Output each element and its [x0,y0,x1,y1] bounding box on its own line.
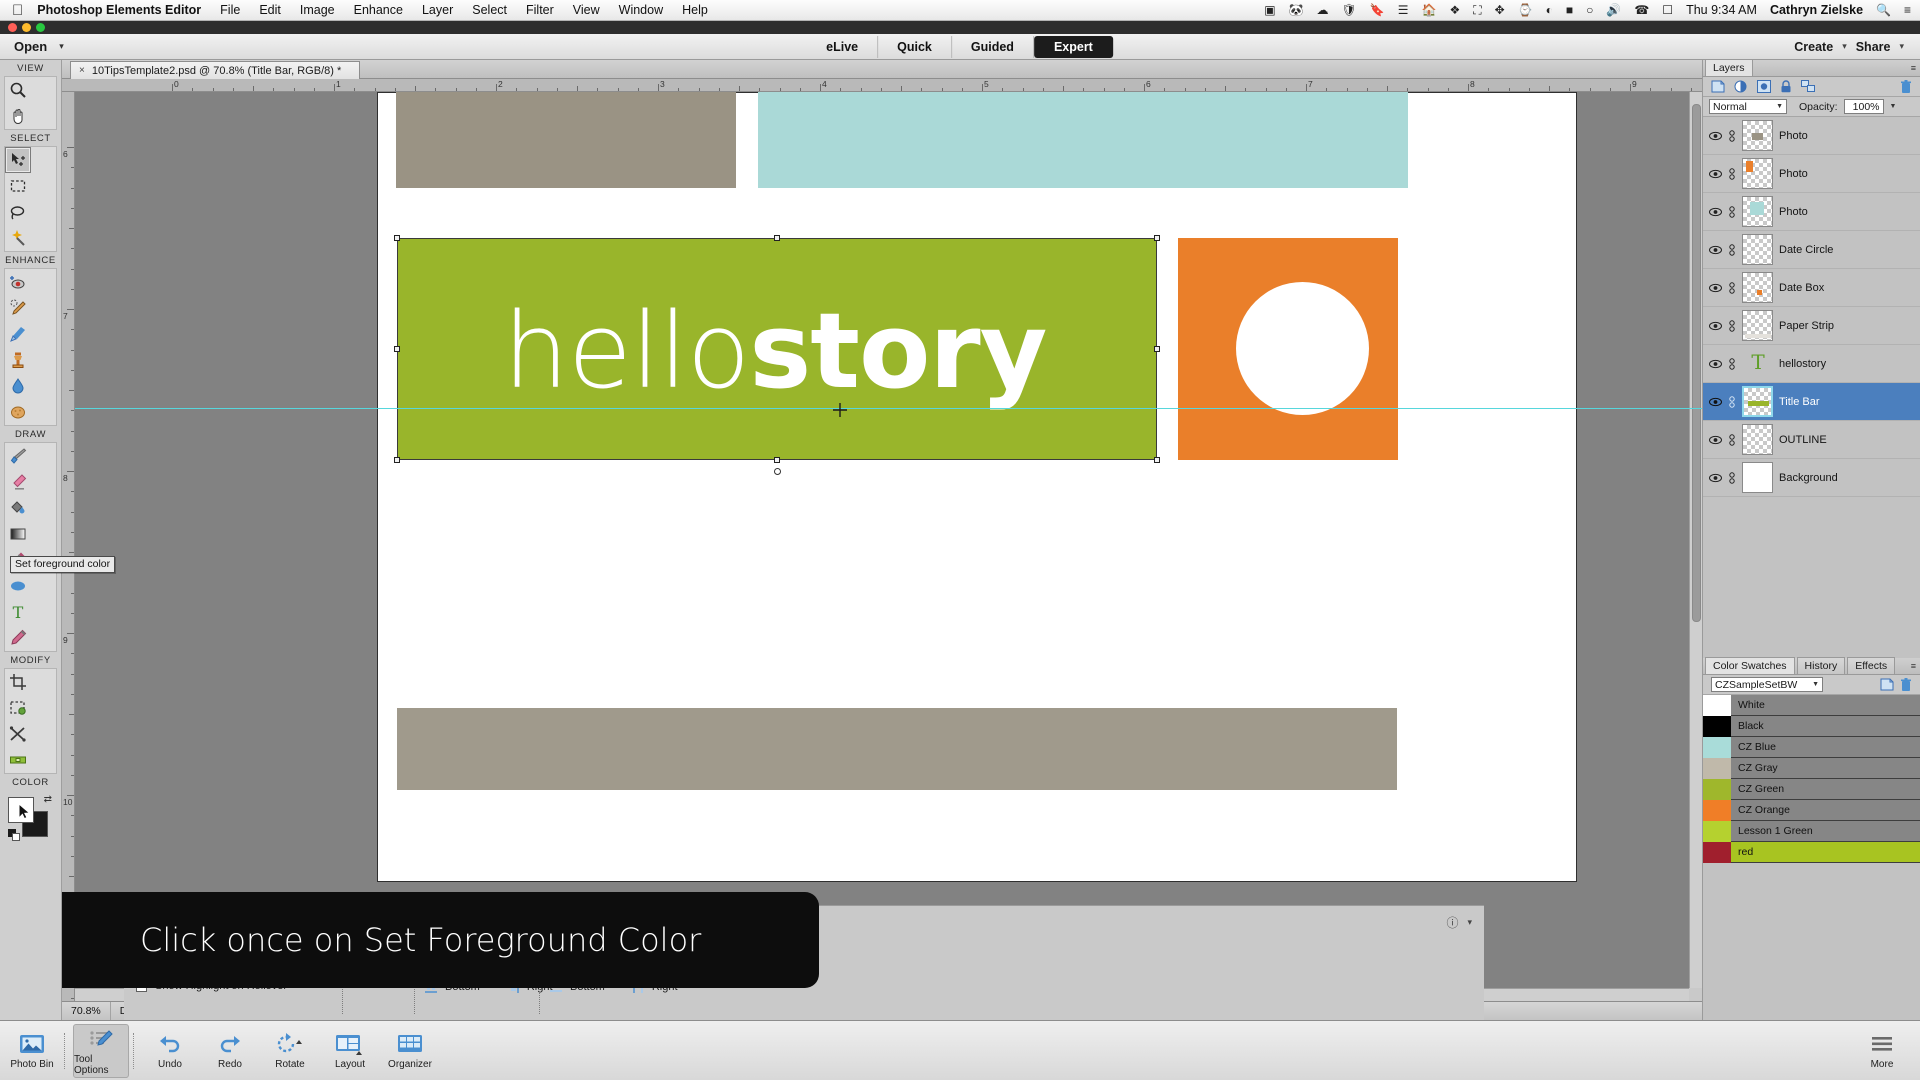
selection-handle-ml[interactable] [394,346,400,352]
share-caret-icon[interactable]: ▾ [1899,41,1904,52]
selection-handle-tr[interactable] [1154,235,1160,241]
opacity-input[interactable]: 100% [1844,99,1884,114]
list-item[interactable]: CZ Green [1703,779,1920,800]
share-button[interactable]: Share [1856,40,1891,54]
link-icon[interactable] [1728,282,1736,294]
layer-thumbnail[interactable] [1742,424,1773,455]
scrollbar-thumb[interactable] [1692,104,1701,622]
link-icon[interactable] [1728,472,1736,484]
app-top-bar: Open ▾ eLive Quick Guided Expert Create … [0,34,1920,60]
color-picker-widget: ⇄ [8,794,54,836]
undo-label: Undo [158,1059,182,1070]
selection-handle-tc[interactable] [774,235,780,241]
list-item[interactable]: CZ Gray [1703,758,1920,779]
content-aware-move-tool[interactable] [5,721,31,747]
swatch-name: CZ Green [1731,783,1784,795]
menu-app-name[interactable]: Photoshop Elements Editor [37,3,201,17]
swatch-name: Black [1731,720,1764,732]
menu-help[interactable]: Help [682,3,708,17]
menu-layer[interactable]: Layer [422,3,453,17]
swatch-color-chip[interactable] [1703,716,1731,737]
eye-icon[interactable] [1709,207,1722,217]
create-button[interactable]: Create [1794,40,1833,54]
list-item[interactable]: CZ Blue [1703,737,1920,758]
layer-name: Date Circle [1779,244,1833,256]
help-icon[interactable]: ⓘ [1446,914,1458,931]
layer-mask-icon[interactable] [1757,80,1771,93]
link-icon[interactable] [1728,206,1736,218]
rotate-button[interactable]: Rotate [262,1024,318,1078]
eye-icon[interactable] [1709,169,1722,179]
list-item[interactable]: Black [1703,716,1920,737]
swatch-name: Lesson 1 Green [1731,825,1813,837]
menu-select[interactable]: Select [472,3,507,17]
menu-bar-status-items: ▣ 🐼 ☁ 🛡 🔖 ☰ 🏠 ❖ ⛶ ✥ ⌚ ◐ ■ ○ 🔊 ☎ ☐ Thu 9:… [1264,3,1920,17]
layer-name: Paper Strip [1779,320,1834,332]
link-icon[interactable] [1728,320,1736,332]
organizer-icon [397,1031,423,1057]
list-item[interactable]: CZ Orange [1703,800,1920,821]
layer-thumbnail[interactable] [1742,310,1773,341]
layers-list[interactable]: Photo Photo Photo Date Circle [1703,117,1920,574]
layer-name: Background [1779,472,1838,484]
organizer-label: Organizer [388,1059,432,1070]
shield-icon[interactable]: 🛡 [1342,4,1357,16]
type-tool[interactable]: T [5,599,31,625]
recompose-tool[interactable] [5,695,31,721]
selection-handle-bc[interactable] [774,457,780,463]
layout-label: Layout [335,1059,365,1070]
mode-switcher: eLive Quick Guided Expert [807,36,1113,58]
chevron-down-icon: ▼ [1776,103,1783,110]
menu-file[interactable]: File [220,3,240,17]
straighten-tool[interactable] [5,747,31,773]
photo-bin-button[interactable]: Photo Bin [4,1024,60,1078]
layout-icon [335,1031,365,1057]
blur-tool[interactable] [5,373,31,399]
tool-group-draw: T [4,442,57,652]
swatch-name: White [1731,699,1765,711]
opacity-value: 100% [1853,101,1880,113]
home-icon[interactable]: 🏠 [1422,4,1437,16]
layer-name: Photo [1779,130,1808,142]
swatch-name: red [1731,846,1753,858]
opacity-label: Opacity: [1799,101,1838,113]
panel-menu-icon[interactable]: ≡ [1911,63,1916,73]
phone-icon[interactable]: ☎ [1634,4,1649,16]
default-colors-icon[interactable] [8,829,21,842]
selection-handle-br[interactable] [1154,457,1160,463]
move-tool[interactable] [5,147,31,173]
canvas-stage[interactable]: hellostory [75,92,1702,988]
layer-name: Photo [1779,206,1808,218]
eye-icon[interactable] [1709,397,1722,407]
menu-clock[interactable]: Thu 9:34 AM [1686,3,1757,17]
move-cursor-icon [832,402,848,418]
link-icon[interactable] [1728,358,1736,370]
document-tab-label: 10TipsTemplate2.psd @ 70.8% (Title Bar, … [92,65,341,77]
link-icon[interactable] [1728,168,1736,180]
menu-window[interactable]: Window [619,3,663,17]
tab-color-swatches[interactable]: Color Swatches [1705,657,1795,674]
redo-icon [217,1031,243,1057]
layers-panel-tab-strip: Layers ≡ [1703,60,1920,77]
table-row[interactable]: OUTLINE [1703,421,1920,459]
tool-group-label-color: COLOR [0,774,61,790]
swatch-color-chip[interactable] [1703,758,1731,779]
svg-text:T: T [13,603,24,621]
spot-healing-brush-tool[interactable] [5,295,31,321]
tab-quick[interactable]: Quick [878,36,952,58]
horizontal-ruler: 0123456789 [62,79,1702,92]
open-button[interactable]: Open [14,39,47,54]
layer-thumbnail[interactable] [1742,272,1773,303]
taskbar-divider [64,1033,65,1069]
tool-options-icon [88,1026,114,1052]
menu-user-name[interactable]: Cathryn Zielske [1770,3,1863,17]
lasso-tool[interactable] [5,199,31,225]
bookmark-icon[interactable]: 🔖 [1370,4,1385,16]
table-row[interactable]: Photo [1703,155,1920,193]
swatch-name: CZ Orange [1731,804,1790,816]
tools-panel: VIEW SELECT ENHANCE [0,60,62,1020]
layer-thumbnail[interactable] [1742,462,1773,493]
search-icon[interactable]: 🔍 [1876,4,1891,16]
swatches-toolbar: CZSampleSetBW ▼ [1703,675,1920,695]
swap-colors-icon[interactable]: ⇄ [44,794,52,805]
layer-thumbnail[interactable] [1742,120,1773,151]
menu-filter[interactable]: Filter [526,3,554,17]
layer-name: Date Box [1779,282,1824,294]
tool-group-label-select: SELECT [0,130,61,146]
red-eye-removal-tool[interactable] [5,269,31,295]
editor-main-area: VIEW SELECT ENHANCE [0,60,1920,1020]
blend-mode-value: Normal [1713,101,1747,113]
organizer-button[interactable]: Organizer [382,1024,438,1078]
swatch-name: CZ Gray [1731,762,1778,774]
rectangular-marquee-tool[interactable] [5,173,31,199]
link-icon[interactable] [1728,396,1736,408]
create-caret-icon[interactable]: ▾ [1842,41,1847,52]
table-row[interactable]: Photo [1703,193,1920,231]
trash-icon[interactable] [1900,678,1912,692]
crop-tool[interactable] [5,669,31,695]
tab-history[interactable]: History [1797,657,1846,674]
document-tab-strip: × 10TipsTemplate2.psd @ 70.8% (Title Bar… [62,60,1702,79]
tab-effects[interactable]: Effects [1847,657,1895,674]
zoom-button[interactable] [36,23,45,32]
opacity-chevron-icon[interactable]: ▼ [1890,103,1897,110]
canvas-vertical-scrollbar[interactable] [1689,92,1702,988]
apple-icon[interactable]:  [12,3,23,18]
close-icon[interactable]: × [79,65,85,76]
notification-center-icon[interactable]: ≡ [1904,4,1911,16]
layer-thumbnail[interactable] [1742,158,1773,189]
swatch-color-chip[interactable] [1703,737,1731,758]
sponge-tool[interactable] [5,399,31,425]
battery-icon[interactable]: ■ [1566,4,1573,16]
open-caret-icon[interactable]: ▾ [59,41,64,52]
more-button[interactable]: More [1854,1024,1910,1078]
redo-button[interactable]: Redo [202,1024,258,1078]
tab-elive[interactable]: eLive [807,36,878,58]
document-canvas[interactable]: hellostory [377,92,1577,882]
menu-enhance[interactable]: Enhance [354,3,403,17]
table-row[interactable]: Title Bar [1703,383,1920,421]
paper-strip-gray-bottom[interactable] [397,708,1397,790]
photo-block-gray-top[interactable] [396,92,736,188]
menu-image[interactable]: Image [300,3,335,17]
swatch-color-chip[interactable] [1703,842,1731,863]
move-icon[interactable]: ✥ [1495,4,1505,16]
link-icon[interactable] [1728,434,1736,446]
tooltip-set-foreground-color: Set foreground color [10,556,115,573]
horizontal-guide[interactable] [75,408,1702,409]
swatch-color-chip[interactable] [1703,695,1731,716]
layer-name: OUTLINE [1779,434,1827,446]
selection-rotate-handle[interactable] [774,468,781,475]
app-bar-right: Create ▾ Share ▾ [1794,40,1920,54]
hand-tool[interactable] [5,103,31,129]
right-panel: Layers ≡ Normal ▼ Opacity: 100% ▼ [1702,60,1920,1020]
swatch-set-select[interactable]: CZSampleSetBW ▼ [1711,677,1823,692]
swatch-set-value: CZSampleSetBW [1715,679,1797,691]
photo-bin-label: Photo Bin [10,1059,53,1070]
list-item[interactable]: Lesson 1 Green [1703,821,1920,842]
mouse-cursor-icon [18,803,31,820]
tool-group-label-view: VIEW [0,60,61,76]
swatches-list[interactable]: White Black CZ Blue CZ Gray CZ Green [1703,695,1920,863]
rotate-icon [275,1031,305,1057]
table-row[interactable]: Date Circle [1703,231,1920,269]
screen-recorder-icon[interactable]: ▣ [1264,4,1275,16]
taskbar-divider [133,1033,134,1069]
list-item[interactable]: White [1703,695,1920,716]
eye-icon[interactable] [1709,473,1722,483]
photo-block-blue-top[interactable] [758,92,1408,188]
selection-handle-mr[interactable] [1154,346,1160,352]
chevron-down-icon: ▼ [1812,681,1819,688]
eye-icon[interactable] [1709,359,1722,369]
instruction-caption-text: Click once on Set Foreground Color [62,921,701,959]
creative-cloud-icon[interactable]: ☁ [1317,4,1329,16]
layer-name: Title Bar [1779,396,1820,408]
selection-handle-tl[interactable] [394,235,400,241]
tool-group-label-enhance: ENHANCE [0,252,61,268]
layer-thumbnail[interactable] [1742,386,1773,417]
instruction-caption-overlay: Click once on Set Foreground Color [62,892,819,988]
tool-group-label-draw: DRAW [0,426,61,442]
mac-menu-bar:  Photoshop Elements Editor File Edit Im… [0,0,1920,21]
smart-brush-tool[interactable] [5,321,31,347]
table-row[interactable]: Background [1703,459,1920,497]
redo-label: Redo [218,1059,242,1070]
dropbox-icon[interactable]: ❖ [1449,4,1460,16]
list-item[interactable]: red [1703,842,1920,863]
undo-icon [157,1031,183,1057]
collapse-icon[interactable]: ▾ [1467,917,1472,928]
volume-icon[interactable]: 🔊 [1606,4,1621,16]
rotate-label: Rotate [275,1059,304,1070]
type-layer-icon[interactable]: T [1742,351,1773,376]
paint-bucket-tool[interactable] [5,495,31,521]
tab-guided[interactable]: Guided [952,36,1034,58]
eye-icon[interactable] [1709,321,1722,331]
tab-expert[interactable]: Expert [1034,36,1113,58]
date-circle[interactable] [1236,282,1369,415]
tool-group-enhance [4,268,57,426]
eye-icon[interactable] [1709,435,1722,445]
blend-mode-select[interactable]: Normal ▼ [1709,99,1787,114]
link-icon[interactable] [1728,130,1736,142]
layout-button[interactable]: Layout [322,1024,378,1078]
lock-icon[interactable] [1780,80,1792,93]
menu-view[interactable]: View [573,3,600,17]
adjustment-layer-icon[interactable] [1734,80,1748,93]
eraser-tool[interactable] [5,469,31,495]
eye-icon[interactable] [1709,245,1722,255]
panel-menu-icon[interactable]: ≡ [1911,661,1916,671]
menu-edit[interactable]: Edit [259,3,281,17]
airplay-icon[interactable]: ⛶ [1473,4,1481,16]
evernote-icon[interactable]: 🐼 [1289,4,1304,16]
swatch-name: CZ Blue [1731,741,1776,753]
link-layers-icon[interactable] [1801,80,1816,93]
table-row[interactable]: Paper Strip [1703,307,1920,345]
bottom-taskbar: Photo Bin Tool Options Undo Redo Rotate … [0,1020,1920,1080]
clone-stamp-tool[interactable] [5,347,31,373]
minimize-button[interactable] [22,23,31,32]
color-swatches-panel: Color Swatches History Effects ≡ CZSampl… [1703,658,1920,1020]
new-layer-icon[interactable] [1711,80,1725,93]
selection-handle-bl[interactable] [394,457,400,463]
table-row[interactable]: T hellostory [1703,345,1920,383]
custom-shape-tool[interactable] [5,573,31,599]
photo-bin-icon [19,1031,45,1057]
tab-layers[interactable]: Layers [1705,59,1753,76]
tool-group-view [4,76,57,130]
tool-group-select [4,146,57,252]
pencil-tool[interactable] [5,625,31,651]
swatch-color-chip[interactable] [1703,779,1731,800]
window-controls [0,21,1920,32]
more-icon [1869,1031,1895,1057]
tool-options-label: Tool Options [74,1054,128,1076]
layers-panel-toolbar [1703,77,1920,97]
tool-group-modify [4,668,57,774]
tool-group-label-modify: MODIFY [0,652,61,668]
link-icon[interactable] [1728,244,1736,256]
quick-selection-tool[interactable] [5,225,31,251]
brush-tool[interactable] [5,443,31,469]
equalizer-icon[interactable]: ☰ [1398,4,1409,16]
document-area: × 10TipsTemplate2.psd @ 70.8% (Title Bar… [62,60,1702,1020]
svg-text:T: T [1751,351,1765,373]
window-title-bar [0,21,1920,34]
swatches-panel-tab-strip: Color Swatches History Effects ≡ [1703,658,1920,675]
trash-icon[interactable] [1900,80,1912,94]
table-row[interactable]: Photo [1703,117,1920,155]
table-row[interactable]: Date Box [1703,269,1920,307]
zoom-tool[interactable] [5,77,31,103]
close-button[interactable] [8,23,17,32]
document-tab[interactable]: × 10TipsTemplate2.psd @ 70.8% (Title Bar… [70,61,360,79]
tool-options-button[interactable]: Tool Options [73,1024,129,1078]
bluetooth-icon[interactable]: ○ [1586,4,1593,16]
swatch-color-chip[interactable] [1703,800,1731,821]
more-label: More [1871,1059,1894,1070]
layer-name: hellostory [1779,358,1826,370]
layer-thumbnail[interactable] [1742,234,1773,265]
layer-thumbnail[interactable] [1742,196,1773,227]
zoom-level[interactable]: 70.8% [62,1002,111,1020]
eye-icon[interactable] [1709,131,1722,141]
gradient-tool[interactable] [5,521,31,547]
new-swatch-icon[interactable] [1880,678,1894,691]
eye-icon[interactable] [1709,283,1722,293]
timemachine-icon[interactable]: ⌚ [1518,4,1533,16]
layer-blend-row: Normal ▼ Opacity: 100% ▼ [1703,97,1920,117]
swatch-color-chip[interactable] [1703,821,1731,842]
undo-button[interactable]: Undo [142,1024,198,1078]
displays-icon[interactable]: ☐ [1662,4,1673,16]
selection-bounding-box [397,238,1157,460]
wifi-icon[interactable]: ◐ [1546,4,1553,16]
layer-name: Photo [1779,168,1808,180]
